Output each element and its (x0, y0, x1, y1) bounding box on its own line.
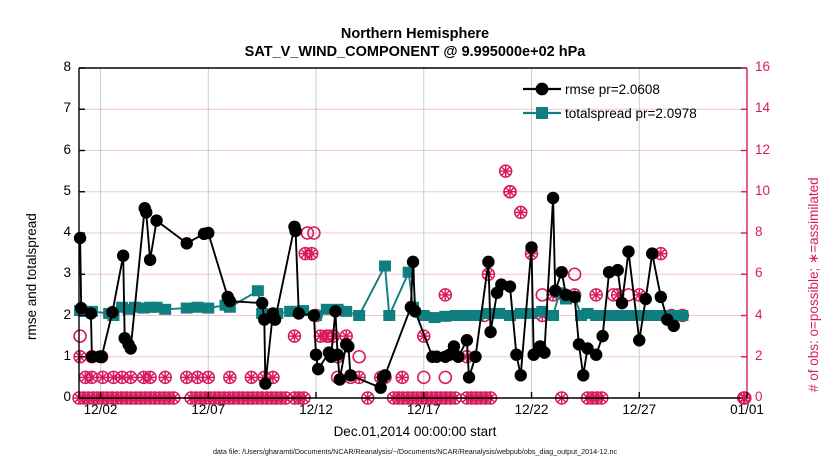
rmse-marker (181, 237, 193, 249)
obs-assimilated-marker (396, 371, 408, 383)
legend-label: totalspread pr=2.0978 (565, 106, 697, 121)
totalspread-marker (439, 311, 451, 322)
rmse-marker (259, 377, 271, 389)
rmse-marker (549, 285, 561, 297)
rmse-marker (463, 371, 475, 383)
rmse-marker (510, 348, 522, 360)
rmse-marker (117, 249, 129, 261)
obs-assimilated-marker (306, 248, 318, 260)
rmse-marker (655, 291, 667, 303)
rmse-marker (596, 330, 608, 342)
obs-assimilated-marker (500, 165, 512, 177)
totalspread-marker (504, 310, 516, 321)
totalspread-marker (429, 312, 441, 323)
rmse-marker (374, 381, 386, 393)
rmse-marker (538, 346, 550, 358)
rmse-marker (577, 369, 589, 381)
rmse-series (74, 192, 680, 394)
rmse-marker (331, 348, 343, 360)
obs-assimilated-marker (245, 371, 257, 383)
totalspread-marker (181, 303, 193, 314)
rmse-marker (469, 351, 481, 363)
obs-assimilated-marker (202, 371, 214, 383)
obs-possible-marker (439, 371, 451, 383)
rmse-marker (293, 307, 305, 319)
rmse-marker (616, 297, 628, 309)
rmse-marker (106, 306, 118, 318)
rmse-marker (525, 241, 537, 253)
rmse-marker (461, 334, 473, 346)
obs-assimilated-marker (515, 206, 527, 218)
rmse-marker (85, 307, 97, 319)
rmse-marker (515, 369, 527, 381)
legend-marker (536, 83, 549, 96)
legend-entry: totalspread pr=2.0978 (521, 102, 697, 124)
legend-square-icon (521, 103, 563, 123)
totalspread-marker (192, 302, 204, 313)
rmse-marker (256, 297, 268, 309)
rmse-line (80, 198, 674, 388)
rmse-marker (668, 320, 680, 332)
totalspread-marker (601, 310, 613, 321)
rmse-marker (144, 254, 156, 266)
rmse-marker (452, 351, 464, 363)
rmse-marker (95, 351, 107, 363)
obs-possible-marker (74, 330, 86, 342)
obs-assimilated-marker (504, 186, 516, 198)
rmse-marker (342, 340, 354, 352)
rmse-marker (590, 348, 602, 360)
rmse-marker (312, 363, 324, 375)
obs-assimilated-marker (439, 289, 451, 301)
rmse-marker (269, 313, 281, 325)
rmse-marker (140, 206, 152, 218)
rmse-marker (289, 225, 301, 237)
totalspread-marker (644, 310, 656, 321)
rmse-marker (409, 305, 421, 317)
rmse-marker (344, 369, 356, 381)
rmse-marker (622, 245, 634, 257)
obs-assimilated-marker (288, 330, 300, 342)
obs-assimilated-marker (224, 371, 236, 383)
obs-assimilated-marker (159, 371, 171, 383)
rmse-marker (334, 373, 346, 385)
rmse-marker (407, 256, 419, 268)
totalspread-marker (202, 303, 214, 314)
rmse-marker (640, 293, 652, 305)
rmse-marker (125, 342, 137, 354)
rmse-marker (329, 305, 341, 317)
legend-circle-icon (521, 79, 563, 99)
rmse-marker (150, 214, 162, 226)
rmse-marker (646, 247, 658, 259)
legend-entry: rmse pr=2.0608 (521, 78, 660, 100)
rmse-marker (504, 280, 516, 292)
totalspread-marker (590, 310, 602, 321)
obs-assimilated-marker (144, 371, 156, 383)
totalspread-marker (252, 285, 264, 296)
legend-label: rmse pr=2.0608 (565, 82, 660, 97)
totalspread-marker (622, 310, 634, 321)
rmse-marker (202, 227, 214, 239)
rmse-marker (484, 326, 496, 338)
obs-assimilated-marker (590, 289, 602, 301)
totalspread-marker (547, 310, 559, 321)
totalspread-marker (383, 310, 395, 321)
rmse-marker (633, 334, 645, 346)
totalspread-marker (612, 310, 624, 321)
totalspread-marker (461, 310, 473, 321)
totalspread-marker (526, 308, 538, 319)
rmse-marker (568, 291, 580, 303)
totalspread-marker (450, 310, 462, 321)
chart-legend: rmse pr=2.0608totalspread pr=2.0978 (521, 78, 743, 126)
totalspread-marker (676, 310, 688, 321)
totalspread-marker (379, 261, 391, 272)
chart-figure: Northern Hemisphere SAT_V_WIND_COMPONENT… (0, 0, 830, 470)
plot-canvas (0, 0, 830, 470)
totalspread-marker (340, 306, 352, 317)
obs-assimilated-marker (125, 371, 137, 383)
rmse-marker (308, 309, 320, 321)
rmse-marker (612, 264, 624, 276)
totalspread-marker (159, 304, 171, 315)
rmse-marker (224, 295, 236, 307)
rmse-marker (379, 369, 391, 381)
legend-marker (536, 107, 548, 119)
totalspread-marker (353, 310, 365, 321)
rmse-marker (482, 256, 494, 268)
rmse-marker (547, 192, 559, 204)
rmse-marker (310, 348, 322, 360)
rmse-marker (555, 266, 567, 278)
